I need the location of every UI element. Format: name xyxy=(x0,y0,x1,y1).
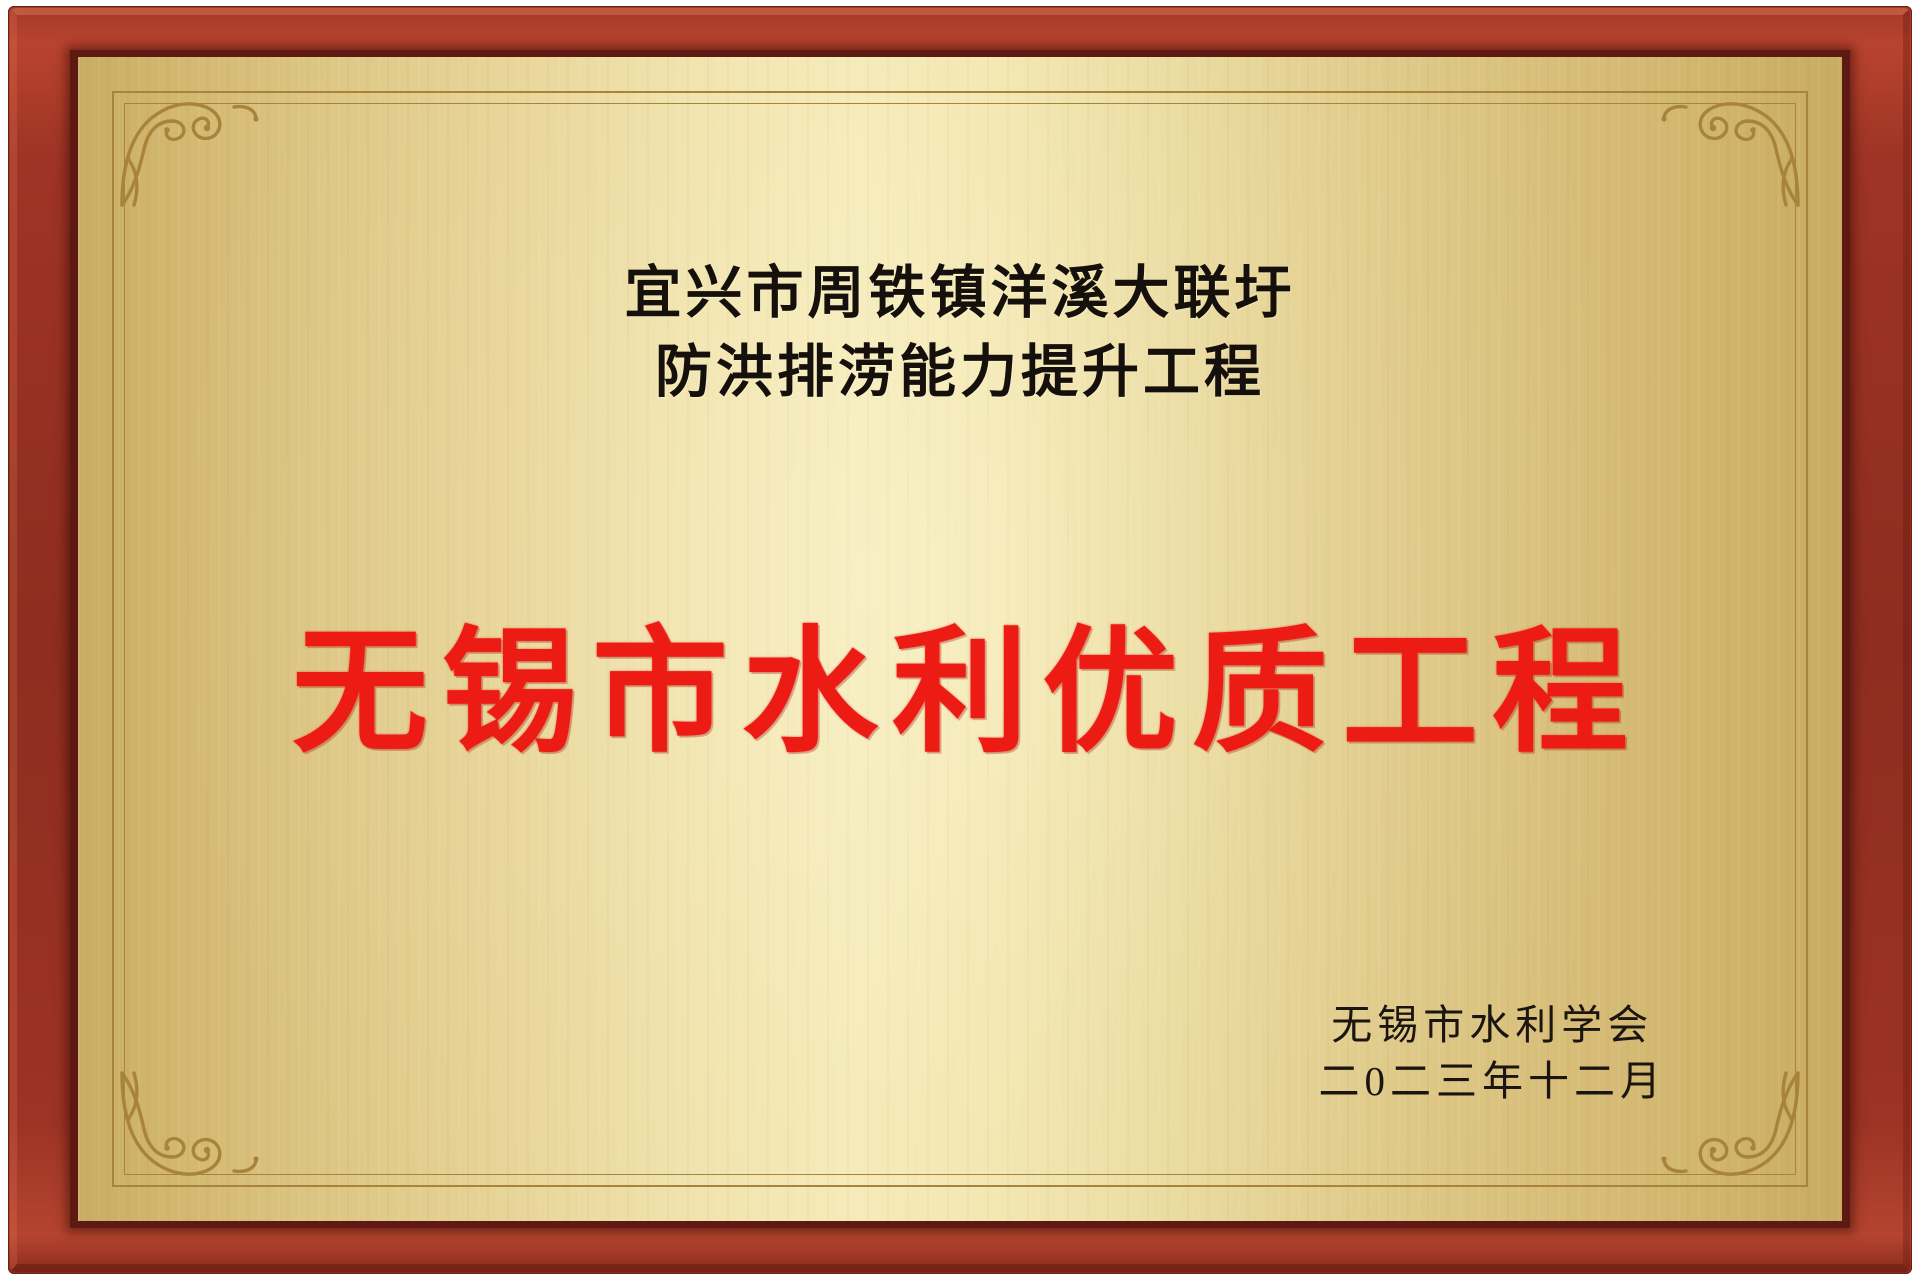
award-plaque: 宜兴市周铁镇洋溪大联圩 防洪排涝能力提升工程 无锡市水利优质工程 无锡市水利学会… xyxy=(0,0,1920,1280)
project-subject-line-2: 防洪排涝能力提升工程 xyxy=(78,332,1842,411)
gold-plate: 宜兴市周铁镇洋溪大联圩 防洪排涝能力提升工程 无锡市水利优质工程 无锡市水利学会… xyxy=(78,57,1842,1221)
corner-flourish-icon-top-left xyxy=(114,93,264,213)
corner-flourish-icon-top-right xyxy=(1656,93,1806,213)
corner-flourish-icon-bottom-right xyxy=(1656,1065,1806,1185)
issuing-organization: 无锡市水利学会 xyxy=(1314,997,1667,1053)
signature-block: 无锡市水利学会 二0二三年十二月 xyxy=(1314,997,1667,1109)
project-subject: 宜兴市周铁镇洋溪大联圩 防洪排涝能力提升工程 xyxy=(78,253,1842,411)
issue-date: 二0二三年十二月 xyxy=(1314,1053,1667,1109)
project-subject-line-1: 宜兴市周铁镇洋溪大联圩 xyxy=(78,253,1842,332)
award-title: 无锡市水利优质工程 xyxy=(78,617,1842,767)
corner-flourish-icon-bottom-left xyxy=(114,1065,264,1185)
